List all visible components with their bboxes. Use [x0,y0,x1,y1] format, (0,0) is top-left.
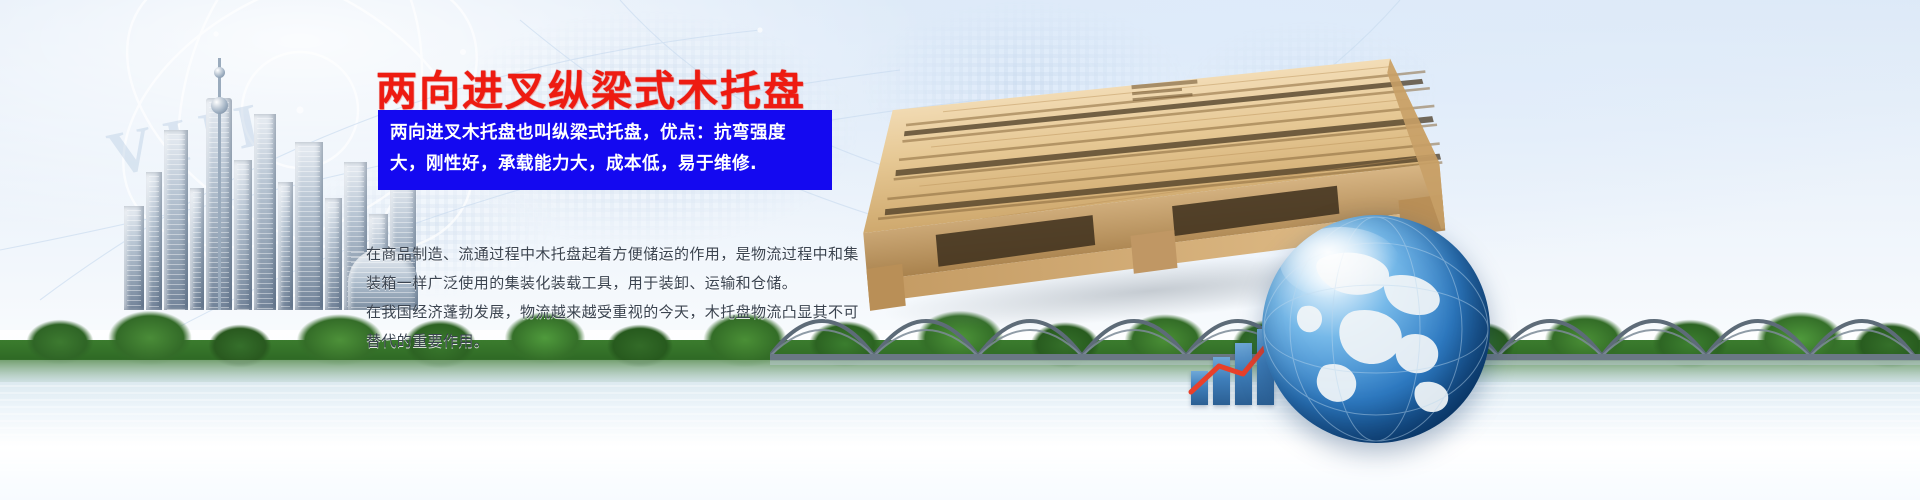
foliage-base-strip [0,340,1920,382]
description-paragraph-1: 在商品制造、流通过程中木托盘起着方便储运的作用，是物流过程中和集装箱一样广泛使用… [366,240,866,298]
water-streaks [0,380,1920,472]
description-paragraph-2: 在我国经济蓬勃发展，物流越来越受重视的今天，木托盘物流凸显其不可替代的重要作用。 [366,298,866,356]
page-title: 两向进叉纵梁式木托盘 [376,57,806,117]
globe-sphere [1262,215,1490,443]
product-banner: VIII [0,0,1920,500]
highlight-line-2: 大，刚性好，承载能力大，成本低，易于维修. [390,149,820,180]
description-text: 在商品制造、流通过程中木托盘起着方便储运的作用，是物流过程中和集装箱一样广泛使用… [366,240,866,356]
water-reflection-band [0,360,1920,500]
highlight-callout-box: 两向进叉木托盘也叫纵梁式托盘，优点：抗弯强度 大，刚性好，承载能力大，成本低，易… [378,110,832,190]
earth-globe-graphic [1262,215,1497,450]
highlight-line-1: 两向进叉木托盘也叫纵梁式托盘，优点：抗弯强度 [390,118,820,149]
globe-landmasses [1262,215,1490,443]
